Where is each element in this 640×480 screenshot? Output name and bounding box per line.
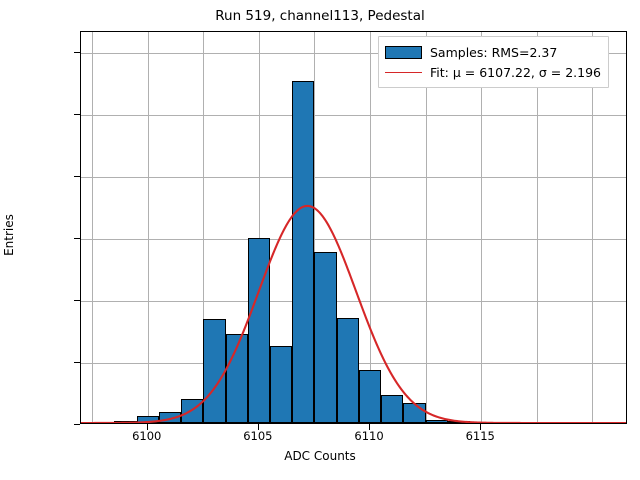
legend: Samples: RMS=2.37 Fit: μ = 6107.22, σ = … bbox=[378, 36, 609, 88]
legend-item-samples: Samples: RMS=2.37 bbox=[385, 42, 601, 62]
y-tick-mark bbox=[74, 176, 80, 177]
y-tick-mark bbox=[74, 52, 80, 53]
legend-label-samples: Samples: RMS=2.37 bbox=[430, 45, 557, 60]
plot-area bbox=[80, 31, 627, 424]
legend-item-fit: Fit: μ = 6107.22, σ = 2.196 bbox=[385, 62, 601, 82]
legend-patch-swatch-icon bbox=[385, 46, 422, 59]
page-title: Run 519, channel113, Pedestal bbox=[0, 8, 640, 24]
y-tick-mark bbox=[74, 114, 80, 115]
x-axis-label: ADC Counts bbox=[0, 449, 640, 463]
x-tick-label: 6100 bbox=[132, 429, 161, 443]
x-tick-label: 6105 bbox=[243, 429, 272, 443]
y-tick-mark bbox=[74, 300, 80, 301]
y-tick-mark bbox=[74, 424, 80, 425]
x-tick-label: 6110 bbox=[354, 429, 383, 443]
y-tick-mark bbox=[74, 362, 80, 363]
y-tick-mark bbox=[74, 238, 80, 239]
legend-label-fit: Fit: μ = 6107.22, σ = 2.196 bbox=[430, 65, 601, 80]
figure-canvas: Run 519, channel113, Pedestal 0500100015… bbox=[0, 0, 640, 480]
x-tick-label: 6115 bbox=[466, 429, 495, 443]
gaussian-fit-curve bbox=[81, 32, 626, 423]
legend-line-swatch-icon bbox=[385, 66, 422, 79]
y-axis-label: Entries bbox=[2, 214, 16, 256]
